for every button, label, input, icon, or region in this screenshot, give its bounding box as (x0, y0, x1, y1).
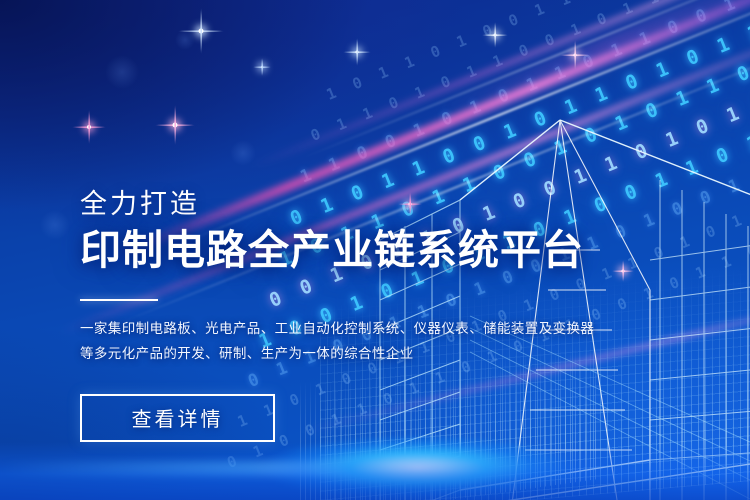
title-divider (80, 299, 158, 301)
view-details-button[interactable]: 查看详情 (80, 394, 275, 442)
sparkle-star-icon (178, 8, 224, 54)
banner-description: 一家集印制电路板、光电产品、工业自动化控制系统、仪器仪表、储能装置及变换器 等多… (80, 317, 550, 367)
description-line-2: 等多元化产品的开发、研制、生产为一体的综合性企业 (80, 342, 550, 367)
sparkle-star-icon (155, 105, 195, 145)
sparkle-star-icon (253, 58, 271, 76)
banner-eyebrow: 全力打造 (80, 190, 600, 220)
hero-banner: 1 0 1 1 0 1 0 0 1 1 0 1 0 1 1 0 0 1 0 1 … (0, 0, 750, 500)
sparkle-star-icon (72, 110, 106, 144)
description-line-1: 一家集印制电路板、光电产品、工业自动化控制系统、仪器仪表、储能装置及变换器 (80, 317, 550, 342)
banner-content: 全力打造 印制电路全产业链系统平台 一家集印制电路板、光电产品、工业自动化控制系… (80, 190, 600, 442)
banner-headline: 印制电路全产业链系统平台 (80, 228, 600, 274)
